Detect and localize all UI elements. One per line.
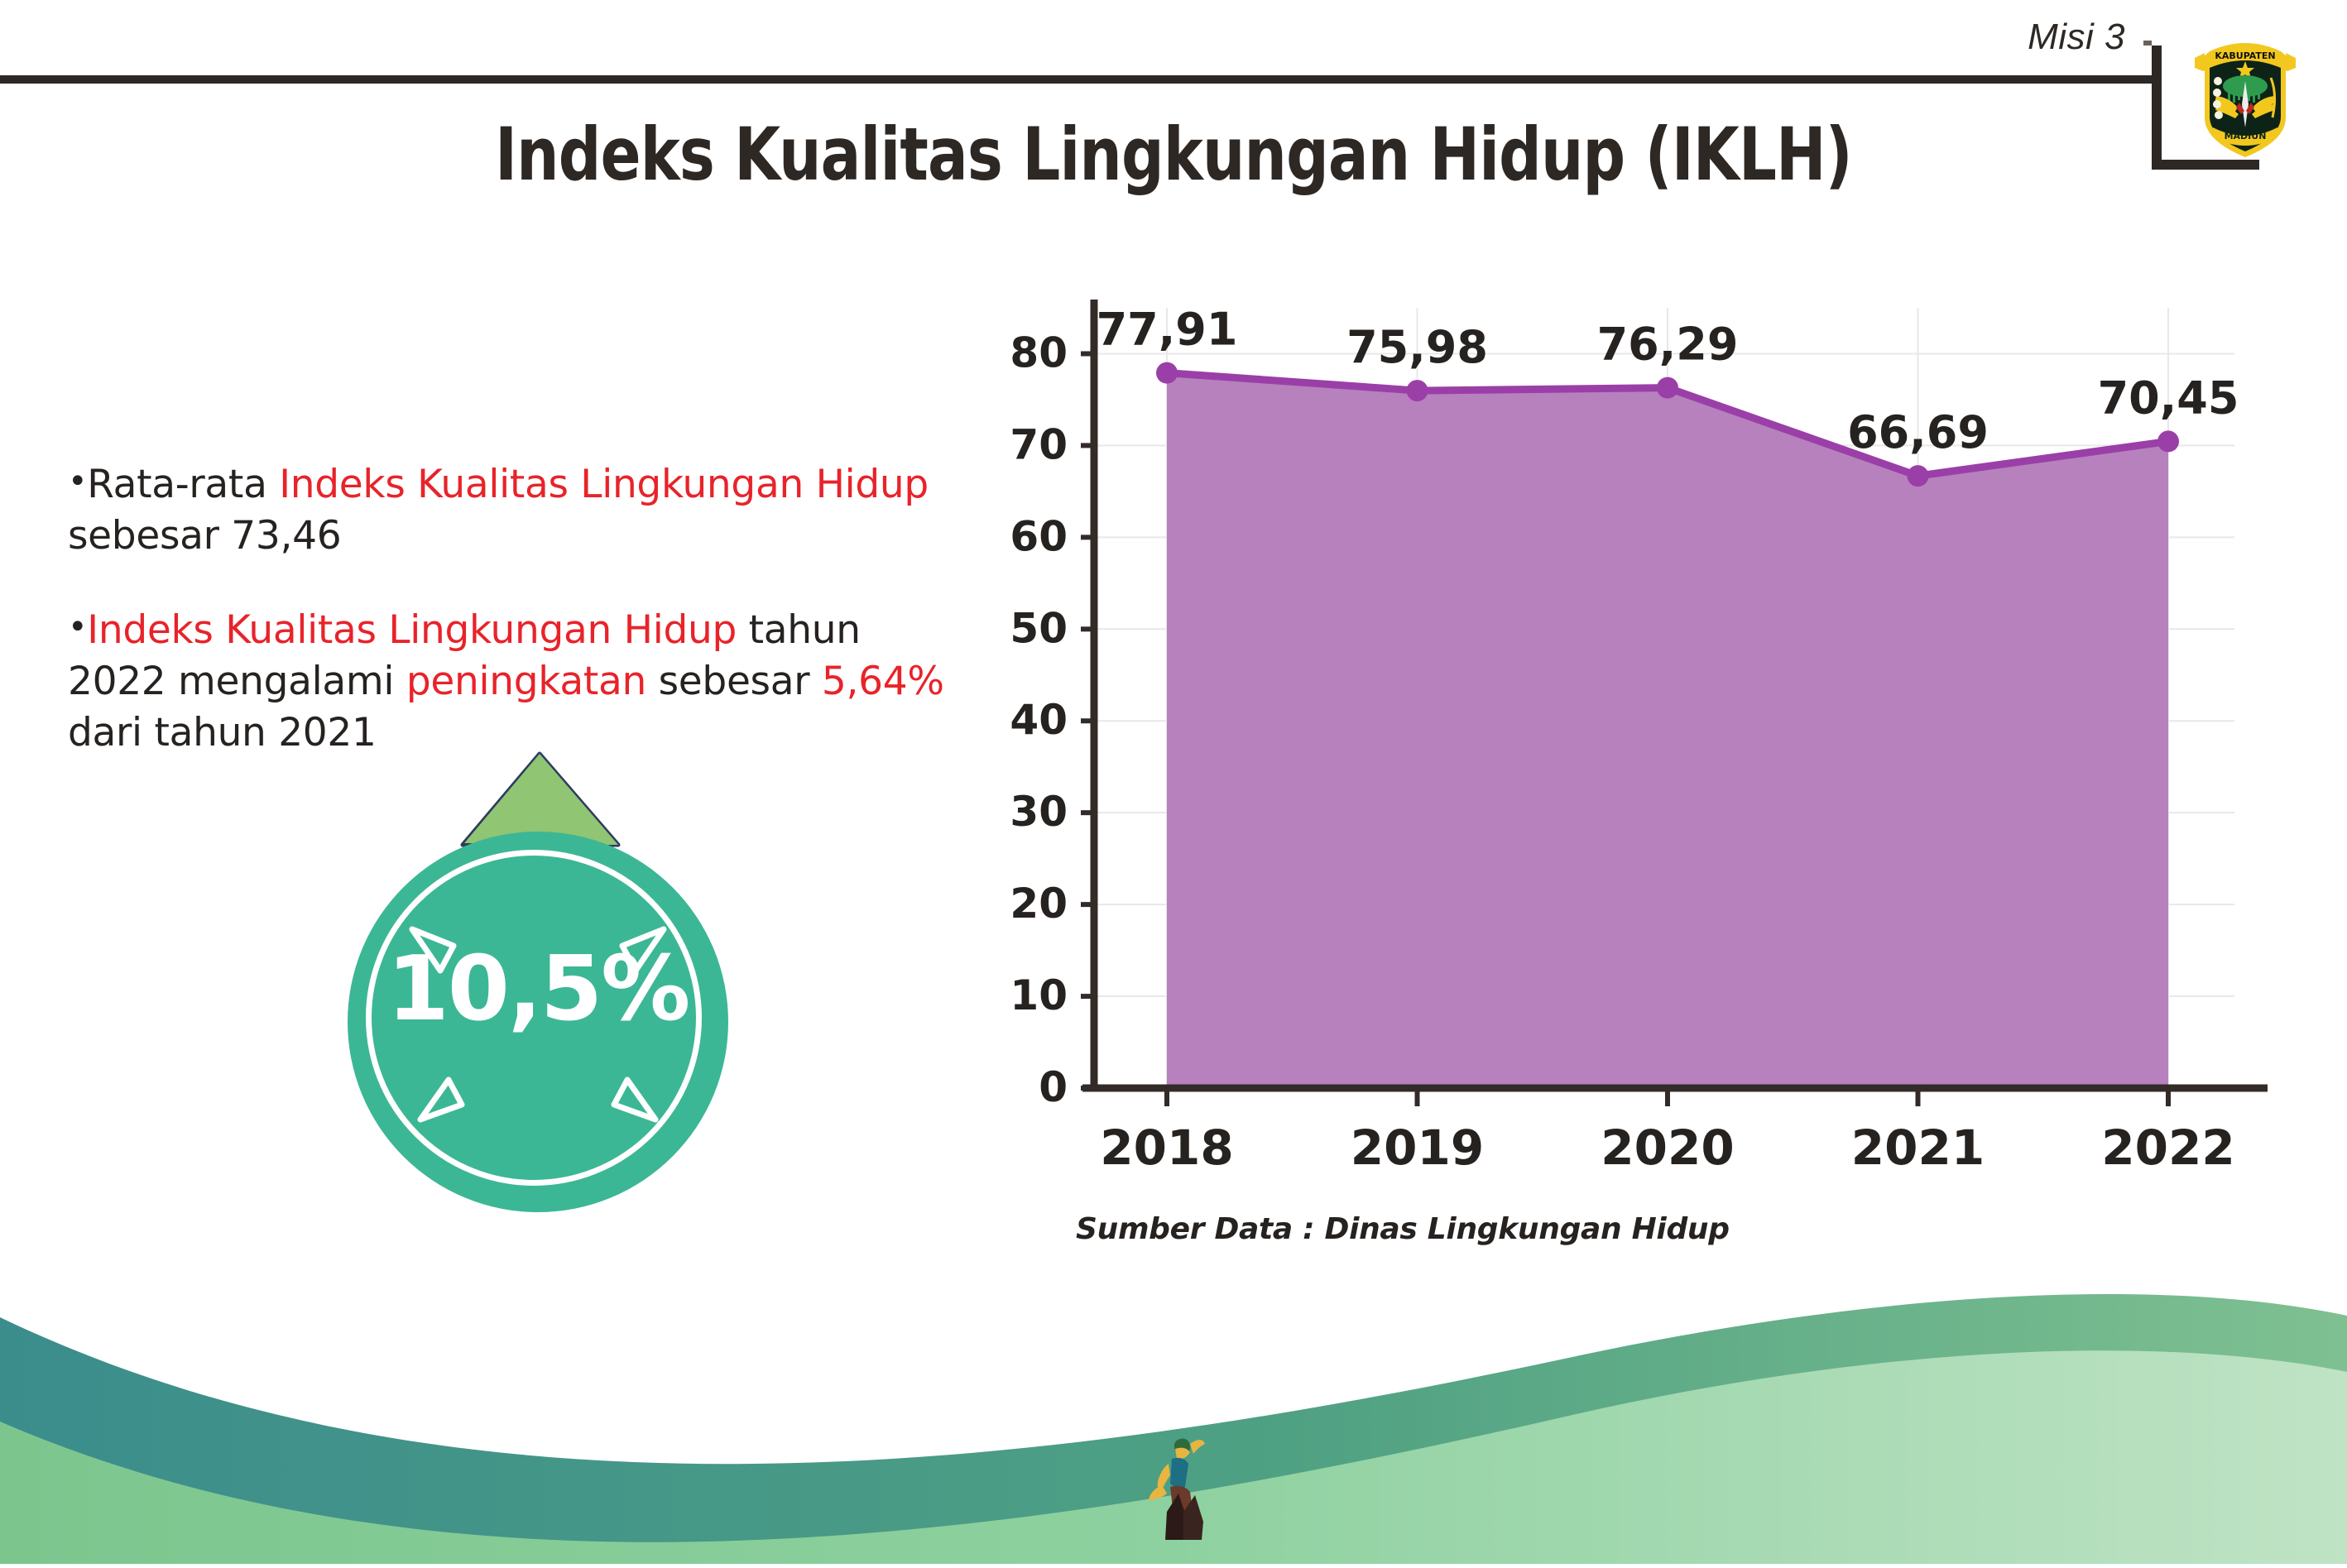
bullet-item-average: •Rata-rata Indeks Kualitas Lingkungan Hi…: [68, 459, 945, 562]
y-tick-label: 20: [1010, 880, 1068, 928]
bullet-dot-icon: •: [68, 608, 87, 646]
data-point-label: 66,69: [1847, 406, 1989, 458]
data-point-marker: [1156, 362, 1178, 384]
y-tick-label: 80: [1010, 328, 1068, 376]
header-rule: [0, 75, 2155, 84]
data-point-marker: [2157, 430, 2179, 452]
highlighted-phrase: Indeks Kualitas Lingkungan Hidup: [87, 607, 737, 653]
y-tick-label: 0: [1039, 1063, 1068, 1111]
x-tick-label: 2020: [1601, 1120, 1734, 1176]
kabupaten-madiun-logo: MADIUN KABUPATEN: [2191, 31, 2299, 164]
highlighted-phrase: 5,64%: [822, 659, 944, 704]
y-tick-label: 40: [1010, 696, 1068, 744]
bullet-text-increase: Indeks Kualitas Lingkungan Hidup tahun 2…: [68, 607, 944, 755]
svg-text:KABUPATEN: KABUPATEN: [2215, 50, 2275, 61]
data-point-label: 76,29: [1597, 319, 1739, 371]
data-point-marker: [1908, 465, 1929, 487]
chart-canvas: 01020304050607080 20182019202020212022 7…: [977, 290, 2268, 1192]
data-point-label: 70,45: [2098, 372, 2239, 424]
header-bracket-vertical: [2152, 46, 2162, 170]
plain-phrase: sebesar: [646, 659, 822, 704]
y-tick-label: 10: [1010, 971, 1068, 1019]
logo-emblem-icon: MADIUN KABUPATEN: [2191, 31, 2299, 164]
highlighted-phrase: peningkatan: [406, 659, 646, 704]
y-tick-label: 70: [1010, 420, 1068, 468]
chart-source-note: Sumber Data : Dinas Lingkungan Hidup: [1076, 1212, 1730, 1246]
x-tick-label: 2022: [2101, 1120, 2234, 1176]
chart-x-tick-labels: 20182019202020212022: [1100, 1120, 2234, 1176]
y-tick-label: 30: [1010, 788, 1068, 836]
chart-y-tick-labels: 01020304050607080: [1010, 328, 1068, 1111]
data-point-label: 77,91: [1097, 304, 1238, 356]
plain-phrase: Rata-rata: [87, 462, 279, 507]
area-fill-path: [1167, 373, 2168, 1088]
bullet-text-average: Rata-rata Indeks Kualitas Lingkungan Hid…: [68, 462, 929, 559]
data-point-marker: [1407, 380, 1428, 401]
bullet-dot-icon: •: [68, 463, 87, 501]
data-point-marker: [1657, 377, 1678, 399]
iklh-area-chart: 01020304050607080 20182019202020212022 7…: [977, 290, 2268, 1192]
x-tick-label: 2021: [1851, 1120, 1985, 1176]
svg-text:MADIUN: MADIUN: [2225, 131, 2267, 141]
highlighted-phrase: Indeks Kualitas Lingkungan Hidup: [279, 462, 929, 507]
bullet-item-increase: •Indeks Kualitas Lingkungan Hidup tahun …: [68, 605, 945, 759]
badge-value: 10,5%: [348, 937, 728, 1041]
x-tick-label: 2018: [1100, 1120, 1233, 1176]
x-tick-label: 2019: [1351, 1120, 1484, 1176]
y-tick-label: 60: [1010, 512, 1068, 560]
plain-phrase: sebesar 73,46: [68, 513, 341, 559]
chart-area-fill: [1167, 373, 2168, 1088]
page-title: Indeks Kualitas Lingkungan Hidup (IKLH): [211, 112, 2136, 197]
dancer-figure-icon: [1144, 1436, 1220, 1543]
increase-badge: 10,5%: [327, 749, 757, 1212]
mission-label: Misi 3: [2028, 17, 2125, 58]
y-tick-label: 50: [1010, 604, 1068, 652]
data-point-label: 75,98: [1346, 321, 1488, 373]
